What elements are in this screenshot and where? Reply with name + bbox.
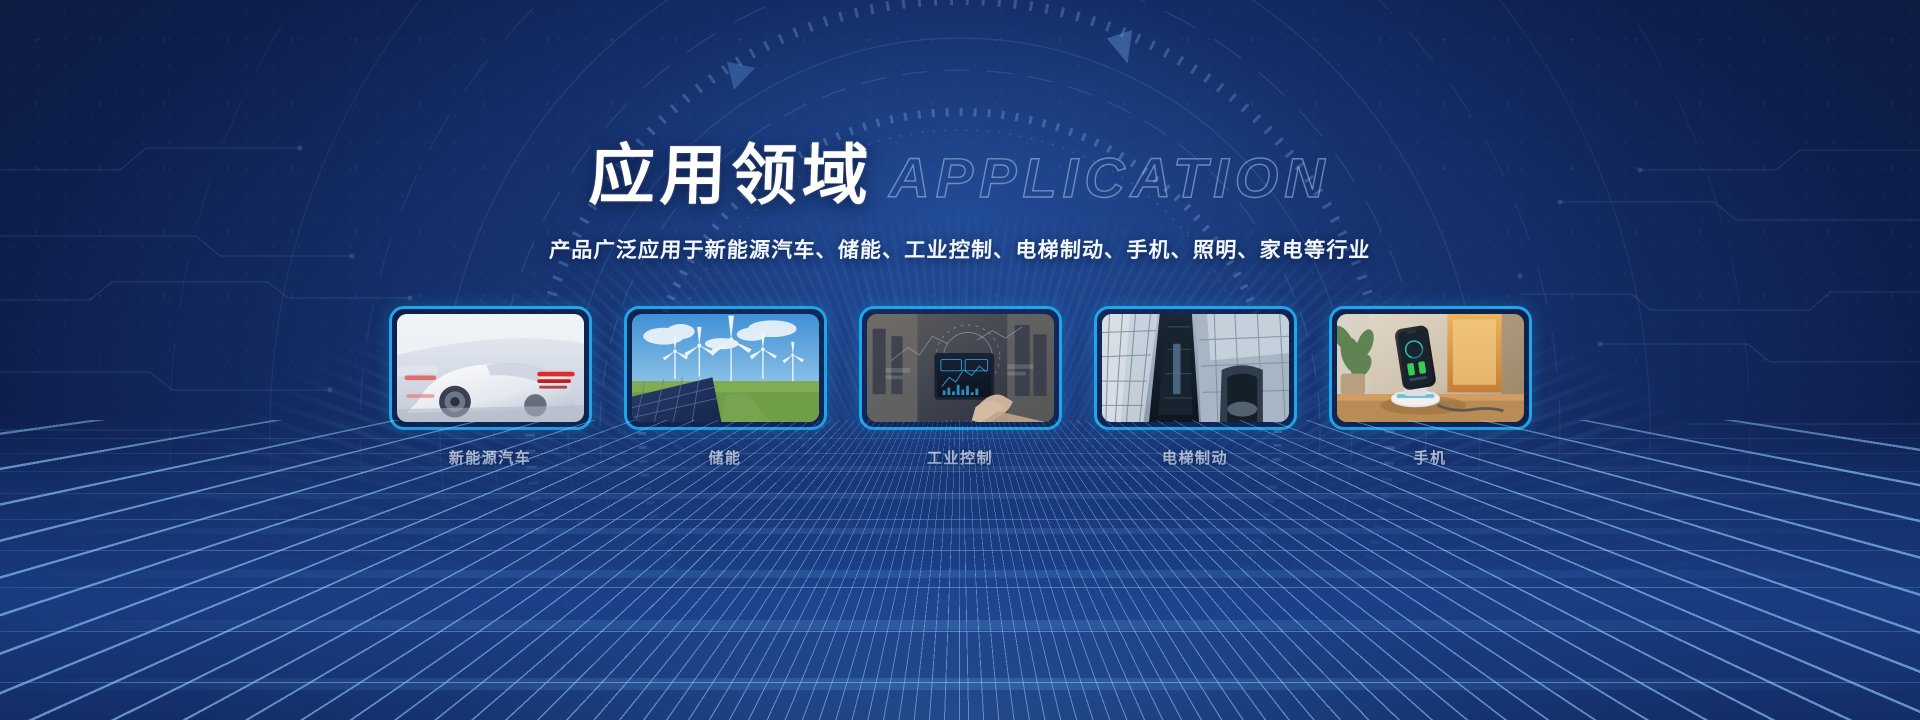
card-frame[interactable] (859, 306, 1062, 430)
energy-storage-photo (632, 314, 819, 422)
mobile-phone-photo (1337, 314, 1524, 422)
application-banner: 应用领域 APPLICATION 产品广泛应用于新能源汽车、储能、工业控制、电梯… (0, 0, 1920, 720)
new-energy-vehicle-photo (397, 314, 584, 422)
industrial-control-photo (867, 314, 1054, 422)
floor-glow-decor (210, 490, 1710, 720)
perspective-floor-decor (0, 420, 1920, 720)
card-frame[interactable] (624, 306, 827, 430)
page-title: 应用领域 (588, 142, 874, 208)
elevator-braking-photo (1102, 314, 1289, 422)
card-frame[interactable] (1329, 306, 1532, 430)
banner-subtitle: 产品广泛应用于新能源汽车、储能、工业控制、电梯制动、手机、照明、家电等行业 (0, 234, 1920, 264)
triangle-decor-right (1104, 26, 1132, 63)
card-frame[interactable] (1094, 306, 1297, 430)
title-row: 应用领域 APPLICATION (0, 118, 1920, 208)
card-frame[interactable] (389, 306, 592, 430)
page-title-english: APPLICATION (889, 150, 1330, 206)
banner-header: 应用领域 APPLICATION 产品广泛应用于新能源汽车、储能、工业控制、电梯… (0, 118, 1920, 264)
